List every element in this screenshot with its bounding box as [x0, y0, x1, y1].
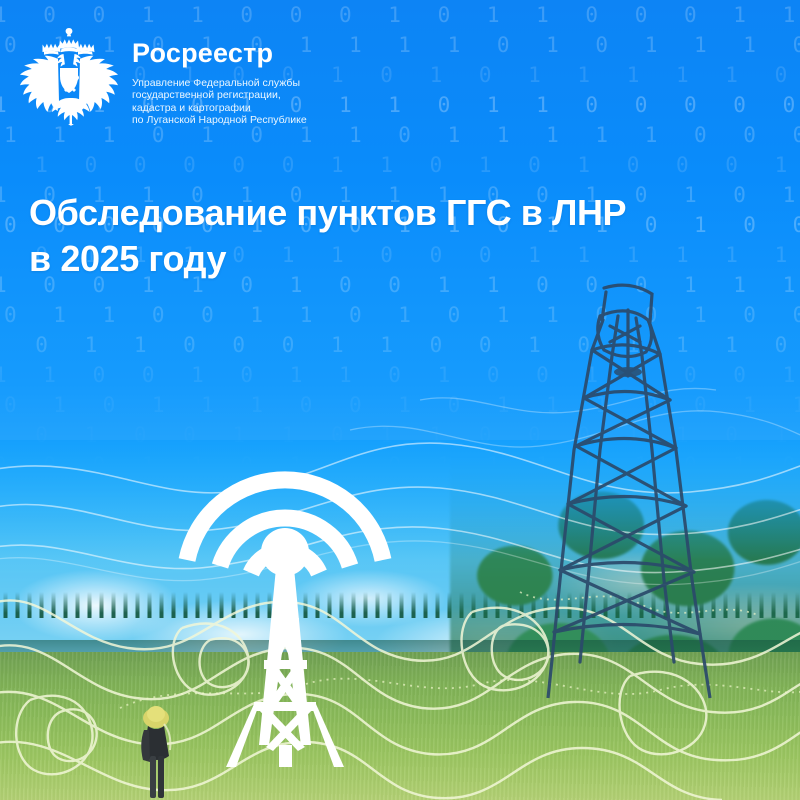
page-title-line-1: Обследование пунктов ГГС в ЛНР: [29, 190, 626, 236]
brand-name: Росреестр: [132, 40, 307, 67]
page-title-line-2: в 2025 году: [29, 236, 626, 282]
brand-subtitle-line-2: государственной регистрации,: [132, 89, 307, 101]
tower-lattice: [226, 568, 344, 767]
brand-subtitle-line-4: по Луганской Народной Республике: [132, 114, 307, 126]
brand-subtitle-line-3: кадастра и картографии: [132, 102, 307, 114]
brand-subtitle: Управление Федеральной службы государств…: [132, 77, 307, 127]
poster-canvas: 1 0 0 1 1 0 0 0 1 0 1 1 0 0 0 1 1 0 0 1 …: [0, 0, 800, 800]
brand-text-block: Росреестр Управление Федеральной службы …: [132, 24, 307, 127]
antenna-signal-tower-icon: [150, 330, 420, 770]
brand-header: Росреестр Управление Федеральной службы …: [20, 24, 307, 128]
binary-row: 0 1 0 0 0 0 0 1 1 0 1 0 1 0 0 0 1 1 1 1 …: [0, 150, 800, 180]
page-title: Обследование пунктов ГГС в ЛНР в 2025 го…: [29, 190, 626, 282]
brand-subtitle-line-1: Управление Федеральной службы: [132, 77, 307, 89]
geodetic-signal-tower-photo: [500, 280, 760, 700]
rosreestr-eagle-logo-icon: [20, 24, 118, 128]
